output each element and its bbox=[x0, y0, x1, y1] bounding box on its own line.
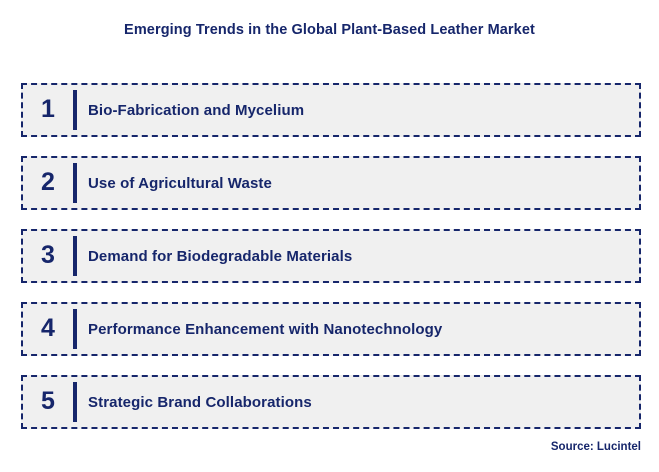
trend-row: 3 Demand for Biodegradable Materials bbox=[21, 229, 641, 283]
trend-number: 3 bbox=[23, 243, 73, 270]
source-attribution: Source: Lucintel bbox=[551, 441, 641, 453]
trend-label: Performance Enhancement with Nanotechnol… bbox=[77, 321, 639, 338]
trend-row: 4 Performance Enhancement with Nanotechn… bbox=[21, 302, 641, 356]
trend-label: Bio-Fabrication and Mycelium bbox=[77, 102, 639, 119]
trend-number: 1 bbox=[23, 97, 73, 124]
infographic-page: Emerging Trends in the Global Plant-Base… bbox=[0, 0, 659, 472]
trend-label: Use of Agricultural Waste bbox=[77, 175, 639, 192]
trend-number: 4 bbox=[23, 316, 73, 343]
trend-number: 2 bbox=[23, 170, 73, 197]
trend-row: 2 Use of Agricultural Waste bbox=[21, 156, 641, 210]
trend-label: Strategic Brand Collaborations bbox=[77, 394, 639, 411]
trend-list: 1 Bio-Fabrication and Mycelium 2 Use of … bbox=[21, 83, 641, 429]
trend-label: Demand for Biodegradable Materials bbox=[77, 248, 639, 265]
trend-row: 1 Bio-Fabrication and Mycelium bbox=[21, 83, 641, 137]
trend-number: 5 bbox=[23, 389, 73, 416]
trend-row: 5 Strategic Brand Collaborations bbox=[21, 375, 641, 429]
page-title: Emerging Trends in the Global Plant-Base… bbox=[0, 22, 659, 38]
